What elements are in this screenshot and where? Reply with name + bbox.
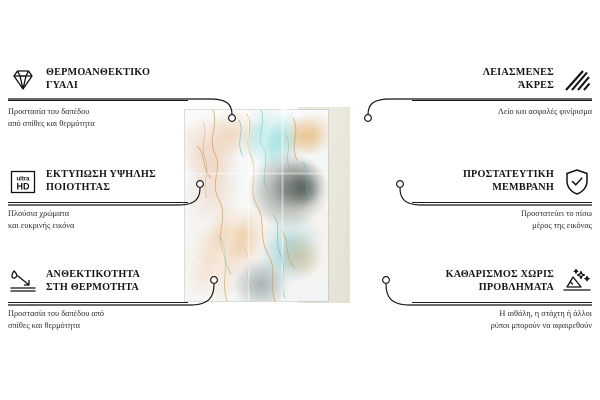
feature-header: ΑΝΘΕΚΤΙΚΟΤΗΤΑ ΣΤΗ ΘΕΡΜΟΤΗΤΑ [8, 264, 188, 300]
glass-panel-front [185, 110, 328, 301]
sparkle-clean-icon [562, 267, 592, 297]
feature-header: ΘΕΡΜΟΑΝΘΕΚΤΙΚΟ ΓΥΑΛΙ [8, 62, 188, 98]
infographic-canvas: ΘΕΡΜΟΑΝΘΕΚΤΙΚΟ ΓΥΑΛΙ Προστασία του δαπέδ… [0, 0, 600, 400]
feature-description: Λείο και ασφαλές φινίρισμα [412, 106, 592, 118]
divider [412, 202, 592, 203]
feature-title: ΕΚΤΥΠΩΣΗ ΥΨΗΛΗΣ ΠΟΙΟΤΗΤΑΣ [46, 169, 188, 195]
ultra-hd-icon: ultra HD [8, 167, 38, 197]
feature-title: ΛΕΙΑΣΜΕΝΕΣ ΆΚΡΕΣ [412, 67, 554, 93]
feature-description: Πλούσια χρώματα και ευκρινής εικόνα [8, 208, 188, 232]
highlight-sparkle [276, 103, 292, 119]
feature-callout-protective-membrane[interactable]: ΠΡΟΣΤΑΤΕΥΤΙΚΗ ΜΕΜΒΡΑΝΗ Προστατεύει το πί… [412, 164, 592, 232]
feature-callout-polished-edges[interactable]: ΛΕΙΑΣΜΕΝΕΣ ΆΚΡΕΣ Λείο και ασφαλές φινίρι… [412, 62, 592, 118]
feature-header: ultra HD ΕΚΤΥΠΩΣΗ ΥΨΗΛΗΣ ΠΟΙΟΤΗΤΑΣ [8, 164, 188, 200]
feature-title: ΘΕΡΜΟΑΝΘΕΚΤΙΚΟ ΓΥΑΛΙ [46, 67, 188, 93]
feature-title: ΑΝΘΕΚΤΙΚΟΤΗΤΑ ΣΤΗ ΘΕΡΜΟΤΗΤΑ [46, 269, 188, 295]
feature-header: ΠΡΟΣΤΑΤΕΥΤΙΚΗ ΜΕΜΒΡΑΝΗ [412, 164, 592, 200]
divider [412, 302, 592, 303]
feature-description: Προστασία του δαπέδου από σπίθες και θερ… [8, 106, 188, 130]
feature-description: Προστατεύει το πίσω μέρος της εικόνας [412, 208, 592, 232]
diamond-icon [8, 65, 38, 95]
feature-title: ΚΑΘΑΡΙΣΜΟΣ ΧΩΡΙΣ ΠΡΟΒΛΗΜΑΤΑ [412, 269, 554, 295]
feature-header: ΛΕΙΑΣΜΕΝΕΣ ΆΚΡΕΣ [412, 62, 592, 98]
feature-description: Η αιθάλη, η στάχτη ή άλλοι ρύποι μπορούν… [412, 308, 592, 332]
product-image [180, 105, 410, 305]
divider [412, 100, 592, 101]
divider [8, 202, 188, 203]
feature-callout-high-quality-print[interactable]: ultra HD ΕΚΤΥΠΩΣΗ ΥΨΗΛΗΣ ΠΟΙΟΤΗΤΑΣ Πλούσ… [8, 164, 188, 232]
feature-callout-heat-durability[interactable]: ΑΝΘΕΚΤΙΚΟΤΗΤΑ ΣΤΗ ΘΕΡΜΟΤΗΤΑ Προστασία το… [8, 264, 188, 332]
feature-callout-heat-resistant-glass[interactable]: ΘΕΡΜΟΑΝΘΕΚΤΙΚΟ ΓΥΑΛΙ Προστασία του δαπέδ… [8, 62, 188, 130]
heat-spark-deflect-icon [8, 267, 38, 297]
ink-vein-layer [185, 110, 328, 301]
shield-check-icon [562, 167, 592, 197]
svg-text:HD: HD [17, 182, 30, 192]
feature-header: ΚΑΘΑΡΙΣΜΟΣ ΧΩΡΙΣ ΠΡΟΒΛΗΜΑΤΑ [412, 264, 592, 300]
divider [8, 302, 188, 303]
feature-title: ΠΡΟΣΤΑΤΕΥΤΙΚΗ ΜΕΜΒΡΑΝΗ [412, 169, 554, 195]
feature-description: Προστασία του δαπέδου από σπίθες και θερ… [8, 308, 188, 332]
feature-callout-easy-cleaning[interactable]: ΚΑΘΑΡΙΣΜΟΣ ΧΩΡΙΣ ΠΡΟΒΛΗΜΑΤΑ Η αιθάλη, η … [412, 264, 592, 332]
divider [8, 100, 188, 101]
diagonal-lines-icon [562, 65, 592, 95]
